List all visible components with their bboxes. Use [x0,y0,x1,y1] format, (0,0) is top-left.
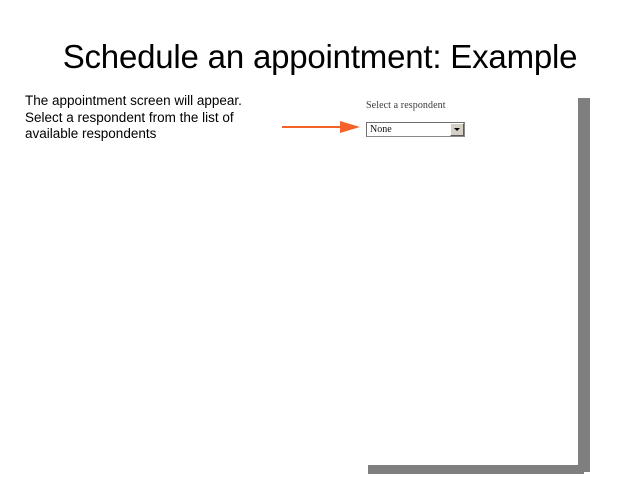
page-title: Schedule an appointment: Example [0,38,640,76]
respondent-select-dropdown[interactable]: None [366,122,465,137]
caret-shape [454,128,460,131]
chevron-down-icon[interactable] [450,123,464,136]
slide-body-text: The appointment screen will appear. Sele… [25,93,253,143]
respondent-select-value: None [367,123,392,136]
slide-canvas: Schedule an appointment: Example The app… [0,0,640,480]
panel-shadow-right [578,98,590,472]
callout-arrow-icon [282,119,362,135]
appointment-screen-panel [362,92,578,465]
panel-shadow-bottom [368,464,584,474]
respondent-select-label: Select a respondent [366,100,446,111]
